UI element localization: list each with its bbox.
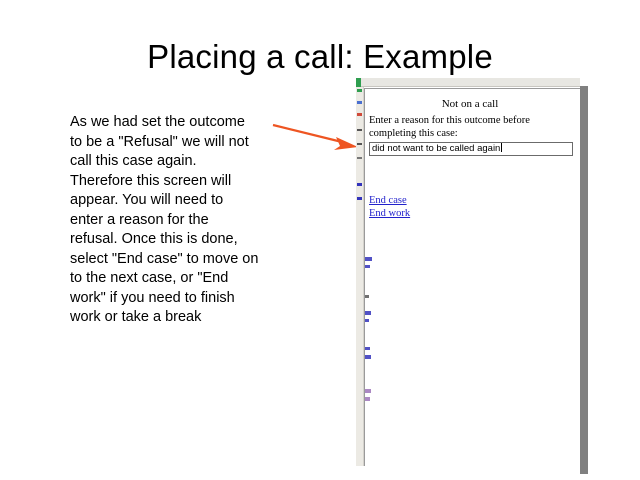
slide-body-text: As we had set the outcome to be a "Refus… <box>70 113 260 328</box>
panel-chrome-bar <box>356 78 580 87</box>
panel-chrome-marker <box>356 78 361 87</box>
page-title: Placing a call: Example <box>0 38 640 76</box>
ghost-fragment <box>365 265 370 268</box>
panel-instruction-text: Enter a reason for this outcome before c… <box>369 114 575 140</box>
reason-input-value: did not want to be called again <box>372 143 500 154</box>
ghost-fragment <box>365 355 371 359</box>
sliver-fleck-link <box>357 197 362 200</box>
ghost-fragment <box>365 389 371 393</box>
panel-content-card: Not on a call Enter a reason for this ou… <box>364 88 580 466</box>
text-caret <box>501 143 502 152</box>
ghost-fragment <box>365 311 371 315</box>
ghost-fragment <box>365 295 369 298</box>
panel-shadow-right <box>580 86 588 474</box>
end-case-link[interactable]: End case <box>369 195 407 206</box>
sliver-fleck-blue <box>357 101 362 104</box>
reason-input[interactable]: did not want to be called again <box>369 142 573 156</box>
ghost-fragment <box>365 397 370 401</box>
panel-heading: Not on a call <box>365 98 575 110</box>
ghost-fragment <box>365 257 372 261</box>
red-arrow <box>272 118 362 154</box>
ghost-fragment <box>365 319 369 322</box>
slide-canvas: Placing a call: Example As we had set th… <box>0 0 640 480</box>
red-arrow-icon <box>272 118 362 154</box>
sliver-fleck-link <box>357 183 362 186</box>
sliver-fleck-red <box>357 113 362 116</box>
end-work-link[interactable]: End work <box>369 208 410 219</box>
ghost-fragment <box>365 347 370 350</box>
background-window-sliver <box>356 87 364 466</box>
sliver-fleck-grey <box>357 129 362 131</box>
sliver-fleck-grey <box>357 143 362 145</box>
embedded-screenshot-panel: Not on a call Enter a reason for this ou… <box>356 78 580 466</box>
sliver-fleck-green <box>357 89 362 92</box>
sliver-fleck-grey <box>357 157 362 159</box>
